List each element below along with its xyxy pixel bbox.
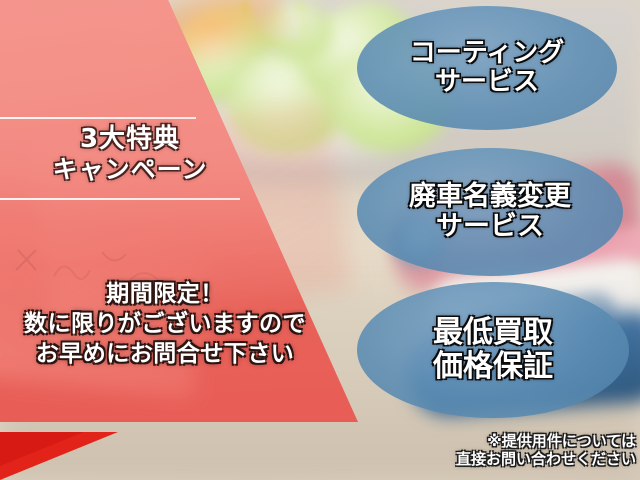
- divider-line-top: [0, 117, 196, 119]
- promo-line-3: お早めにお問合せ下さい: [0, 340, 330, 370]
- note-line-1: ※提供用件については: [386, 432, 636, 450]
- headline-line-2: キャンペーン: [0, 155, 260, 185]
- promo-message: 期間限定！ 数に限りがございますので お早めにお問合せ下さい: [0, 280, 330, 370]
- disclaimer-note: ※提供用件については 直接お問い合わせください: [386, 432, 636, 469]
- benefit-2-line-2: サービス: [436, 212, 544, 242]
- headline-line-1: 3大特典: [0, 124, 260, 155]
- benefit-3-line-2: 価格保証: [433, 350, 553, 384]
- logo-bar: YTS 〜業者御用達のはりだしもん市場: [0, 422, 358, 480]
- benefit-3-line-1: 最低買取: [433, 316, 553, 350]
- promo-line-1: 期間限定！: [0, 280, 330, 310]
- benefit-bubble-price-guarantee[interactable]: 最低買取 価格保証: [357, 282, 629, 418]
- benefit-1-line-2: サービス: [435, 68, 539, 97]
- benefit-bubble-coating[interactable]: コーティング サービス: [357, 6, 617, 130]
- benefit-1-line-1: コーティング: [410, 39, 564, 68]
- note-line-2: 直接お問い合わせください: [386, 450, 636, 468]
- benefit-bubble-scrap-transfer[interactable]: 廃車名義変更 サービス: [357, 148, 623, 276]
- benefit-2-line-1: 廃車名義変更: [409, 182, 571, 212]
- divider-line-bottom: [0, 198, 240, 200]
- promo-banner: 3大特典 キャンペーン 期間限定！ 数に限りがございますので お早めにお問合せ下…: [0, 0, 640, 480]
- campaign-headline: 3大特典 キャンペーン: [0, 124, 260, 184]
- promo-line-2: 数に限りがございますので: [0, 310, 330, 340]
